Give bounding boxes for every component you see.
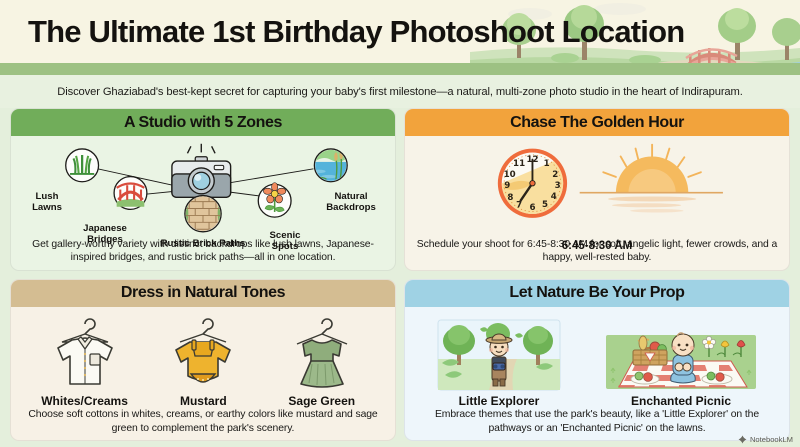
panel-golden-hour: Chase The Golden Hour — [404, 108, 790, 271]
clock-icon: 12 1 2 3 4 5 6 7 8 9 10 — [498, 149, 567, 218]
svg-text:8: 8 — [507, 193, 513, 203]
infographic-page: The Ultimate 1st Birthday Photoshoot Loc… — [0, 0, 800, 447]
watermark: NotebookLM — [738, 435, 793, 444]
camera-icon — [172, 144, 231, 198]
zone-icon-bridge — [114, 177, 147, 210]
panel-title-natural-tones: Dress in Natural Tones — [11, 280, 395, 307]
panel-caption-nature-prop: Embrace themes that use the park's beaut… — [405, 408, 789, 440]
svg-text:9: 9 — [504, 181, 510, 191]
dress-item-whites-creams: Whites/Creams — [41, 318, 128, 408]
zone-label-japanese-bridges: Japanese Bridges — [75, 224, 135, 245]
panel-title-nature-prop: Let Nature Be Your Prop — [405, 280, 789, 307]
panel-natural-tones: Dress in Natural Tones — [10, 279, 396, 442]
explorer-child-icon — [437, 319, 561, 391]
dress-label-sage-green: Sage Green — [288, 394, 355, 408]
nature-item-little-explorer: Little Explorer — [437, 319, 561, 408]
zone-icon-flower — [258, 183, 291, 218]
page-header: The Ultimate 1st Birthday Photoshoot Loc… — [0, 0, 800, 75]
sunrise-icon — [580, 145, 723, 213]
panel-caption-natural-tones: Choose soft cottons in whites, creams, o… — [11, 408, 395, 440]
nature-label-enchanted-picnic: Enchanted Picnic — [631, 394, 731, 408]
watermark-label: NotebookLM — [750, 435, 793, 444]
zone-label-natural-backdrops: Natural Backdrops — [315, 192, 387, 213]
panel-grid: A Studio with 5 Zones — [0, 108, 800, 447]
mustard-romper-icon — [160, 318, 246, 392]
white-shirt-icon — [42, 318, 128, 392]
golden-hour-time-label: 6:45-8:30 AM — [405, 240, 789, 252]
zone-label-scenic-spots: Scenic Spots — [257, 231, 313, 252]
panel-title-studio-zones: A Studio with 5 Zones — [11, 109, 395, 136]
nature-label-little-explorer: Little Explorer — [459, 394, 540, 408]
sage-dress-icon — [279, 318, 365, 392]
dress-item-mustard: Mustard — [160, 318, 246, 408]
dress-label-mustard: Mustard — [180, 394, 227, 408]
zone-icon-brick — [184, 196, 222, 232]
golden-hour-art: 12 1 2 3 4 5 6 7 8 9 10 — [405, 136, 789, 229]
picnic-baby-icon — [605, 319, 757, 391]
header-divider-strip — [0, 63, 800, 75]
svg-text:3: 3 — [555, 181, 561, 191]
svg-text:2: 2 — [552, 170, 558, 180]
panel-studio-zones: A Studio with 5 Zones — [10, 108, 396, 271]
svg-text:10: 10 — [504, 170, 516, 180]
dress-item-sage-green: Sage Green — [279, 318, 365, 408]
svg-text:5: 5 — [542, 200, 548, 210]
nature-item-enchanted-picnic: Enchanted Picnic — [605, 319, 757, 408]
page-subtitle: Discover Ghaziabad's best-kept secret fo… — [57, 86, 742, 98]
dress-label-whites-creams: Whites/Creams — [41, 394, 128, 408]
dress-items-row: Whites/Creams — [11, 307, 395, 409]
subtitle-band: Discover Ghaziabad's best-kept secret fo… — [0, 75, 800, 108]
zone-label-lush-lawns: Lush Lawns — [19, 192, 75, 213]
nature-items-row: Little Explorer — [405, 307, 789, 409]
zone-icon-pond — [312, 147, 347, 182]
svg-text:7: 7 — [516, 201, 522, 211]
panel-title-golden-hour: Chase The Golden Hour — [405, 109, 789, 136]
notebooklm-icon — [738, 435, 747, 444]
panel-nature-prop: Let Nature Be Your Prop — [404, 279, 790, 442]
svg-text:4: 4 — [551, 192, 557, 202]
svg-text:1: 1 — [544, 159, 550, 169]
svg-text:6: 6 — [529, 203, 535, 213]
page-title: The Ultimate 1st Birthday Photoshoot Loc… — [28, 14, 684, 50]
zones-diagram: Lush Lawns Japanese Bridges Rustic Brick… — [11, 136, 395, 238]
zone-label-rustic-brick-paths: Rustic Brick Paths — [151, 239, 255, 250]
picnic-baby-figure — [671, 333, 696, 383]
zone-icon-grass — [66, 149, 99, 182]
svg-text:11: 11 — [513, 159, 525, 169]
